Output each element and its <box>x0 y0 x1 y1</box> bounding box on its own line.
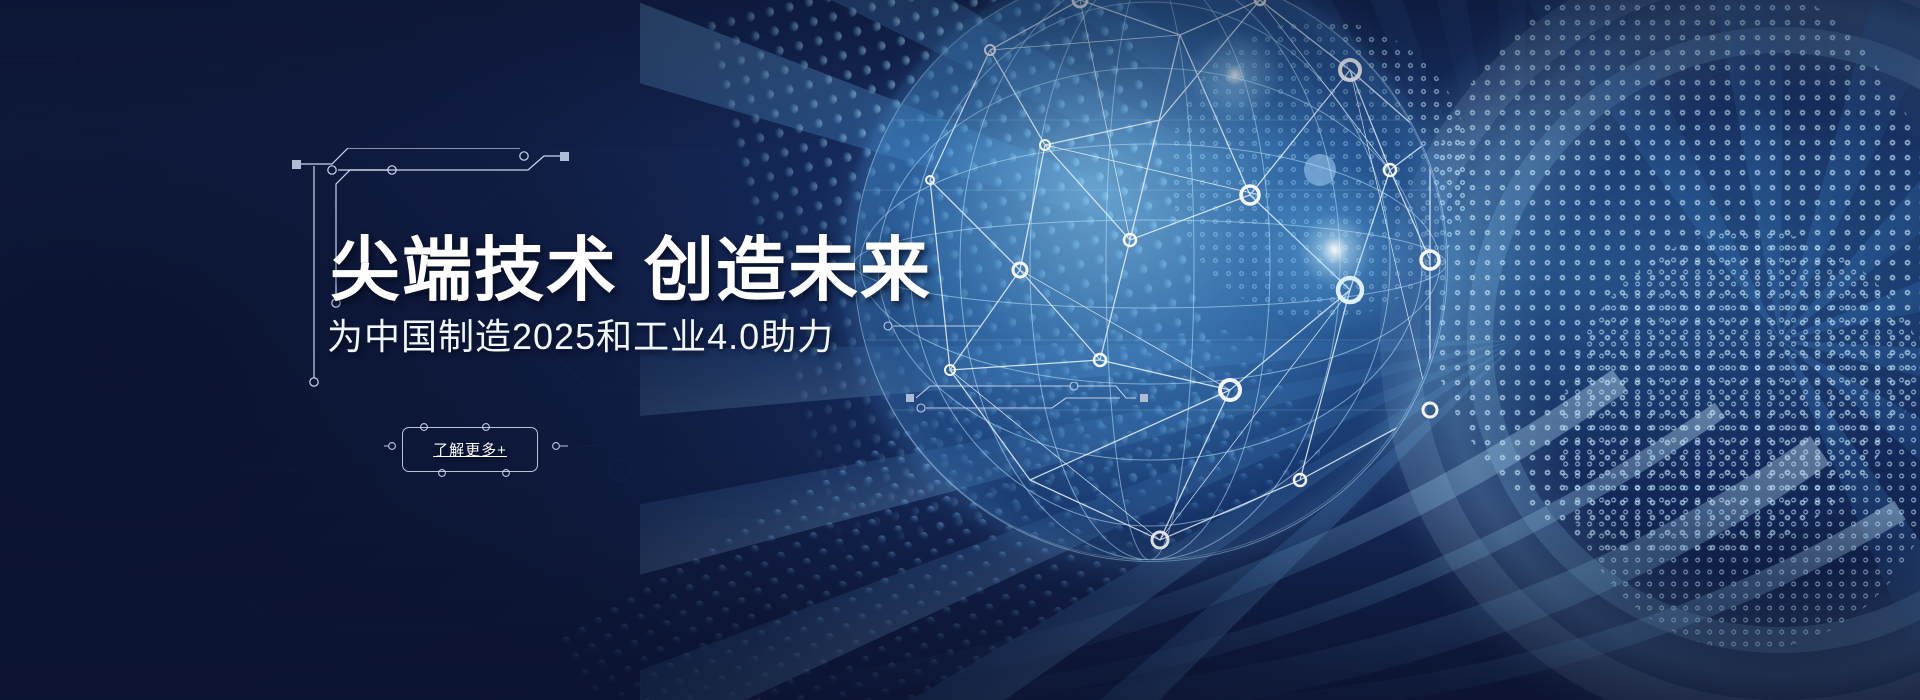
title-line-b: 创造未来 <box>644 231 932 309</box>
banner-content: 尖端技术创造未来 为中国制造2025和工业4.0助力 <box>0 0 1920 700</box>
circuit-line-right-icon <box>780 300 980 360</box>
page-subtitle: 为中国制造2025和工业4.0助力 <box>327 308 834 360</box>
learn-more-button[interactable]: 了解更多+ <box>402 427 538 472</box>
title-line-a: 尖端技术 <box>330 231 618 309</box>
hero-banner: 尖端技术创造未来 为中国制造2025和工业4.0助力 <box>0 0 1920 700</box>
circuit-line-lower-icon <box>600 382 1160 422</box>
page-title: 尖端技术创造未来 <box>330 233 932 307</box>
